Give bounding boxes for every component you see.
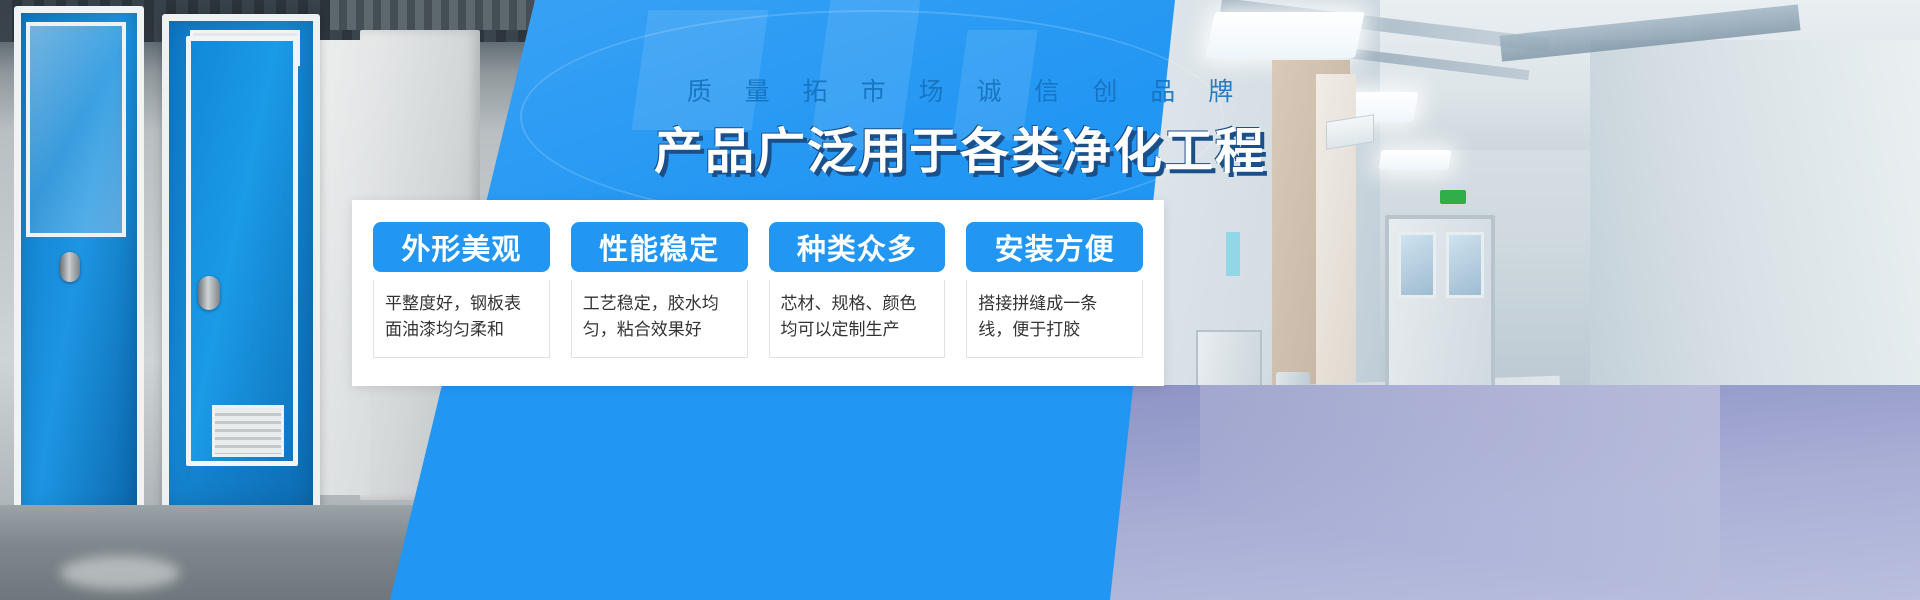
door-handle-left <box>60 252 80 282</box>
feature-card-title: 外形美观 <box>373 222 550 272</box>
feature-card-title: 种类众多 <box>769 222 946 272</box>
ceiling-panel <box>330 0 560 30</box>
door-handle <box>198 276 220 310</box>
door-viewport-left <box>1398 232 1436 298</box>
feature-card-body: 搭接拼缝成一条线，便于打胶 <box>966 280 1143 358</box>
feature-card-panel: 外形美观 平整度好，钢板表面油漆均匀柔和 性能稳定 工艺稳定，胶水均匀，粘合效果… <box>352 200 1164 386</box>
feature-card-body: 工艺稳定，胶水均匀，粘合效果好 <box>571 280 748 358</box>
feature-card-title: 安装方便 <box>966 222 1143 272</box>
door-viewport-right <box>1446 232 1484 298</box>
promo-banner: 质 量 拓 市 场 诚 信 创 品 牌 产品广泛用于各类净化工程 外形美观 平整… <box>0 0 1920 600</box>
wall-marker <box>1226 232 1240 276</box>
feature-card[interactable]: 安装方便 搭接拼缝成一条线，便于打胶 <box>966 222 1143 358</box>
ceiling-light-1 <box>1205 12 1365 58</box>
feature-card-body: 芯材、规格、颜色均可以定制生产 <box>769 280 946 358</box>
floor-highlight <box>1200 385 1720 600</box>
feature-card[interactable]: 外形美观 平整度好，钢板表面油漆均匀柔和 <box>373 222 550 358</box>
feature-card[interactable]: 种类众多 芯材、规格、颜色均可以定制生产 <box>769 222 946 358</box>
banner-headline: 产品广泛用于各类净化工程 <box>0 112 1920 183</box>
banner-subtitle: 质 量 拓 市 场 诚 信 创 品 牌 <box>0 72 1920 108</box>
floor-light-reflection <box>60 556 180 590</box>
exit-sign-icon <box>1440 190 1466 204</box>
feature-card[interactable]: 性能稳定 工艺稳定，胶水均匀，粘合效果好 <box>571 222 748 358</box>
door-louver-vent <box>212 405 284 457</box>
feature-card-body: 平整度好，钢板表面油漆均匀柔和 <box>373 280 550 358</box>
feature-card-title: 性能稳定 <box>571 222 748 272</box>
